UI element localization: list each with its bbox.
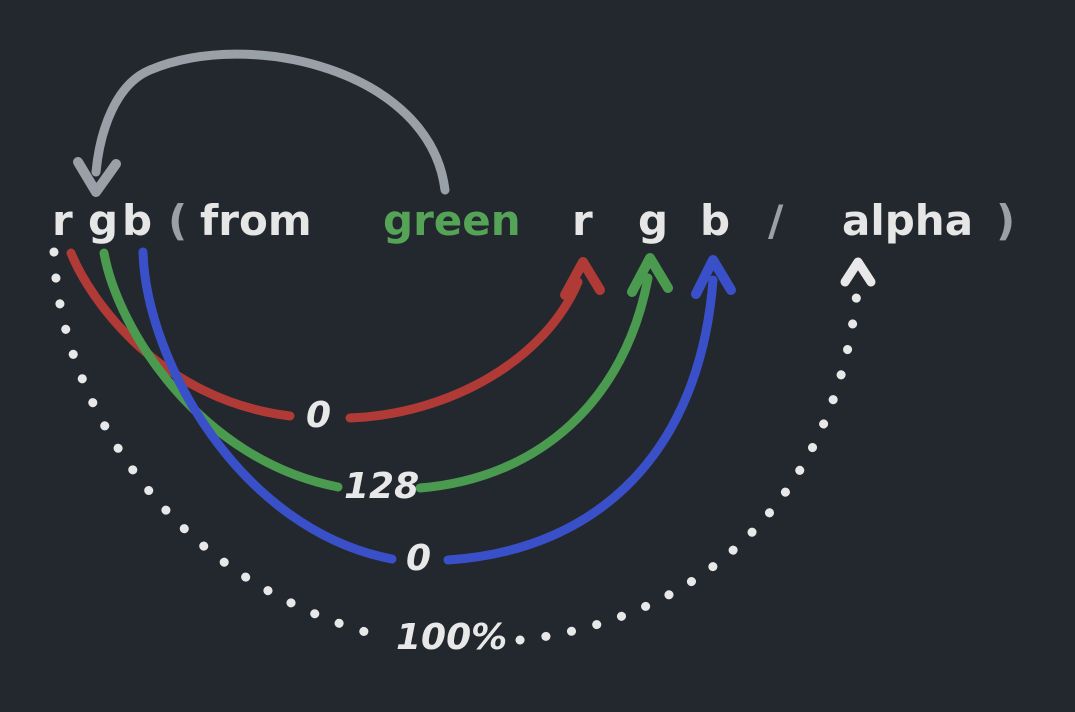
- green-channel-curve: [104, 253, 668, 488]
- blue-channel-value-label: 0: [406, 541, 431, 577]
- token-origin-color: green: [383, 200, 521, 242]
- token-r-component: r: [572, 200, 593, 242]
- token-b-component: b: [700, 200, 730, 242]
- alpha-channel-dotted-curve: [54, 252, 871, 640]
- token-g-component: g: [638, 200, 668, 242]
- token-r-channel-out: r: [52, 200, 73, 242]
- token-alpha-component: alpha: [842, 200, 973, 242]
- green-channel-value-label: 128: [344, 469, 419, 505]
- token-close-paren: ): [996, 200, 1015, 242]
- token-b-channel-out: b: [122, 200, 152, 242]
- token-g-channel-out: g: [88, 200, 118, 242]
- origin-color-arc: [78, 54, 445, 192]
- red-channel-value-label: 0: [306, 398, 331, 434]
- red-channel-curve: [71, 253, 600, 418]
- token-from-keyword: from: [200, 200, 312, 242]
- alpha-channel-value-label: 100%: [396, 620, 507, 656]
- token-slash: /: [768, 200, 783, 242]
- connector-curves-layer: [0, 0, 1075, 712]
- token-open-paren: (: [168, 200, 187, 242]
- diagram-canvas: r g b ( from green r g b / alpha ) 0 128…: [0, 0, 1075, 712]
